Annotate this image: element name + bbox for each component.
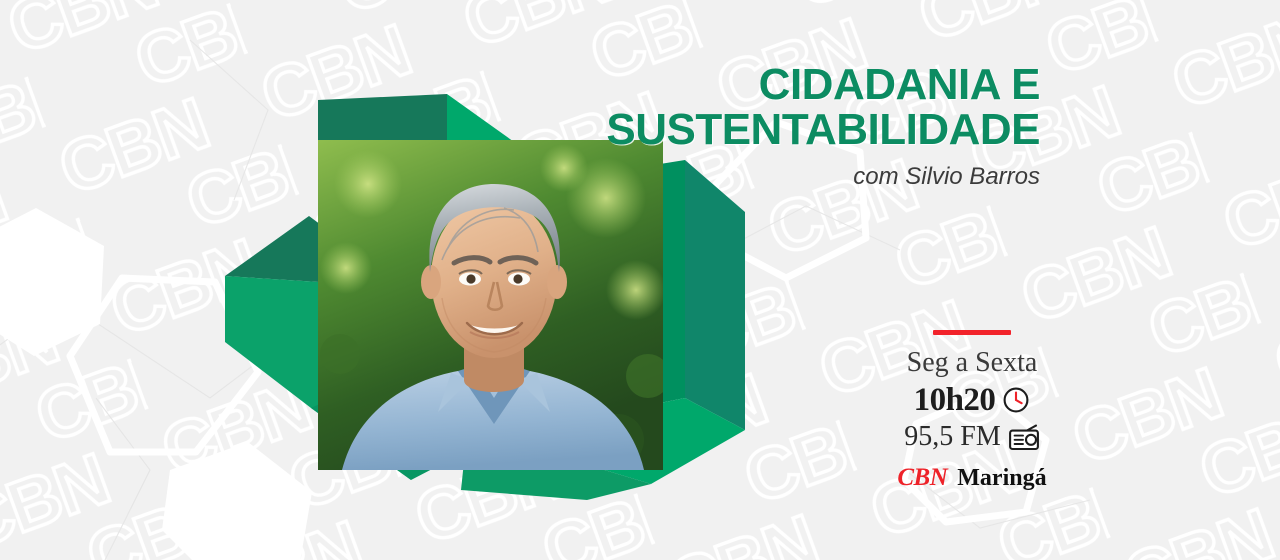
schedule-time-row: 10h20 — [862, 382, 1082, 418]
schedule-frequency: 95,5 FM — [904, 421, 1000, 453]
show-title-line-2: SUSTENTABILIDADE — [400, 107, 1040, 152]
station-city-name: Maringá — [957, 465, 1046, 491]
show-host-subtitle: com Silvio Barros — [400, 163, 1040, 191]
red-divider — [933, 330, 1011, 335]
show-title-block: CIDADANIA E SUSTENTABILIDADE com Silvio … — [400, 62, 1040, 191]
schedule-block: Seg a Sexta 10h20 95,5 FM — [862, 330, 1082, 491]
station-network-name: CBN — [897, 465, 947, 491]
station-logo: CBN Maringá — [862, 465, 1082, 491]
clock-icon — [1002, 386, 1030, 414]
schedule-time: 10h20 — [914, 382, 996, 418]
show-title-line-1: CIDADANIA E — [400, 62, 1040, 107]
schedule-frequency-row: 95,5 FM — [862, 421, 1082, 453]
schedule-days: Seg a Sexta — [862, 347, 1082, 379]
radio-show-banner: CBN CBN — [0, 0, 1280, 560]
radio-icon — [1008, 424, 1040, 451]
